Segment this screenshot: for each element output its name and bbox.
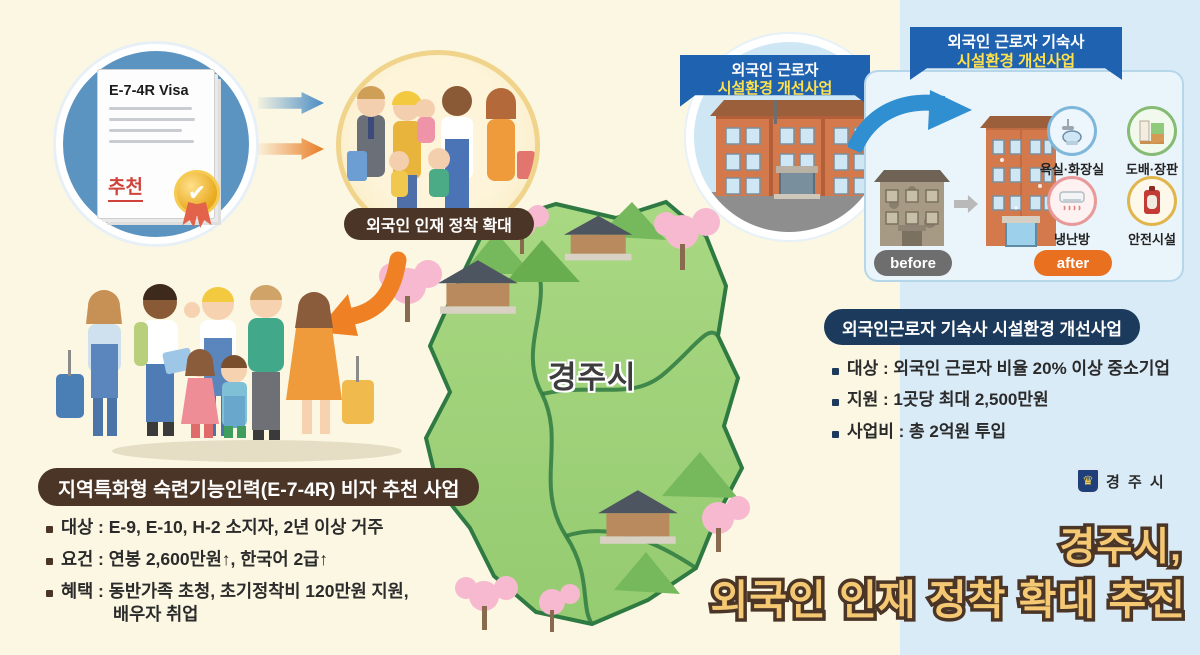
- feature-hvac: 냉난방: [1036, 176, 1108, 248]
- list-item: 요건 : 연봉 2,600만원↑, 한국어 2급↑: [46, 548, 516, 571]
- bathroom-toilet-icon: [1047, 106, 1097, 156]
- list-item-text: 지원 : 1곳당 최대 2,500만원: [847, 389, 1049, 411]
- list-item: 사업비 : 총 2억원 투입: [832, 421, 1192, 443]
- wallpaper-flooring-icon: [1127, 106, 1177, 156]
- visa-illustration-circle: E-7-4R Visa 추천 ✔: [56, 44, 256, 244]
- after-banner-line1: 외국인 근로자 기숙사: [926, 34, 1106, 53]
- feature-label: 안전시설: [1116, 229, 1188, 248]
- banner-stem: [774, 100, 777, 124]
- list-item-text: 대상 : E-9, E-10, H-2 소지자, 2년 이상 거주: [61, 516, 383, 539]
- list-item-text-line2: 배우자 취업: [61, 603, 409, 626]
- right-section-bullet-list: 대상 : 외국인 근로자 비율 20% 이상 중소기업 지원 : 1곳당 최대 …: [832, 358, 1192, 452]
- visa-document-title: E-7-4R Visa: [109, 83, 203, 99]
- dormitory-banner-line1: 외국인 근로자: [696, 62, 854, 80]
- list-item-text-line1: 혜택 : 동반가족 초청, 초기정착비 120만원 지원,: [61, 581, 409, 601]
- bullet-icon: [46, 558, 53, 565]
- bullet-icon: [832, 431, 839, 438]
- visa-document: E-7-4R Visa 추천 ✔: [97, 69, 215, 219]
- left-section-title: 지역특화형 숙련기능인력(E-7-4R) 비자 추천 사업: [38, 468, 479, 506]
- brand-logo-text: 경 주 시: [1106, 471, 1166, 492]
- before-label-tag: before: [874, 250, 952, 276]
- list-item-text: 혜택 : 동반가족 초청, 초기정착비 120만원 지원, 배우자 취업: [61, 580, 409, 626]
- headline-line2: 외국인 인재 정착 확대 추진: [711, 566, 1186, 626]
- curved-arrow-upright-blue: [848, 90, 974, 158]
- headline-line1: 경주시,: [1060, 516, 1182, 572]
- bullet-icon: [46, 526, 53, 533]
- infographic-poster: 경주시 E-7-4R Visa 추천 ✔: [0, 0, 1200, 655]
- feature-bathroom: 욕실·화장실: [1036, 106, 1108, 178]
- gyeongju-city-crest-icon: ♛: [1076, 468, 1100, 494]
- air-conditioner-icon: [1047, 176, 1097, 226]
- bullet-icon: [46, 590, 53, 597]
- left-section-bullet-list: 대상 : E-9, E-10, H-2 소지자, 2년 이상 거주 요건 : 연…: [46, 516, 516, 635]
- feature-wallpaper: 도배·장판: [1116, 106, 1188, 178]
- bullet-icon: [832, 368, 839, 375]
- brand-logo: ♛ 경 주 시: [1076, 468, 1166, 494]
- list-item: 지원 : 1곳당 최대 2,500만원: [832, 389, 1192, 411]
- list-item: 대상 : 외국인 근로자 비율 20% 이상 중소기업: [832, 358, 1192, 380]
- check-seal-icon: ✔: [174, 170, 220, 216]
- visa-recommend-stamp: 추천: [108, 172, 143, 202]
- map-city-label: 경주시: [548, 352, 637, 397]
- list-item: 혜택 : 동반가족 초청, 초기정착비 120만원 지원, 배우자 취업: [46, 580, 516, 626]
- list-item-text: 요건 : 연봉 2,600만원↑, 한국어 2급↑: [61, 548, 328, 571]
- feature-safety: 안전시설: [1116, 176, 1188, 248]
- bullet-icon: [832, 399, 839, 406]
- family-circle-label: 외국인 인재 정착 확대: [344, 208, 534, 240]
- list-item-text: 사업비 : 총 2억원 투입: [847, 421, 1006, 443]
- after-label-tag: after: [1034, 250, 1112, 276]
- migrant-workers-family-icon: [52, 268, 382, 468]
- fire-extinguisher-icon: [1127, 176, 1177, 226]
- feature-label: 냉난방: [1036, 229, 1108, 248]
- list-item-text: 대상 : 외국인 근로자 비율 20% 이상 중소기업: [847, 358, 1170, 380]
- list-item: 대상 : E-9, E-10, H-2 소지자, 2년 이상 거주: [46, 516, 516, 539]
- old-building-icon: [872, 160, 952, 252]
- right-section-title: 외국인근로자 기숙사 시설환경 개선사업: [824, 309, 1140, 345]
